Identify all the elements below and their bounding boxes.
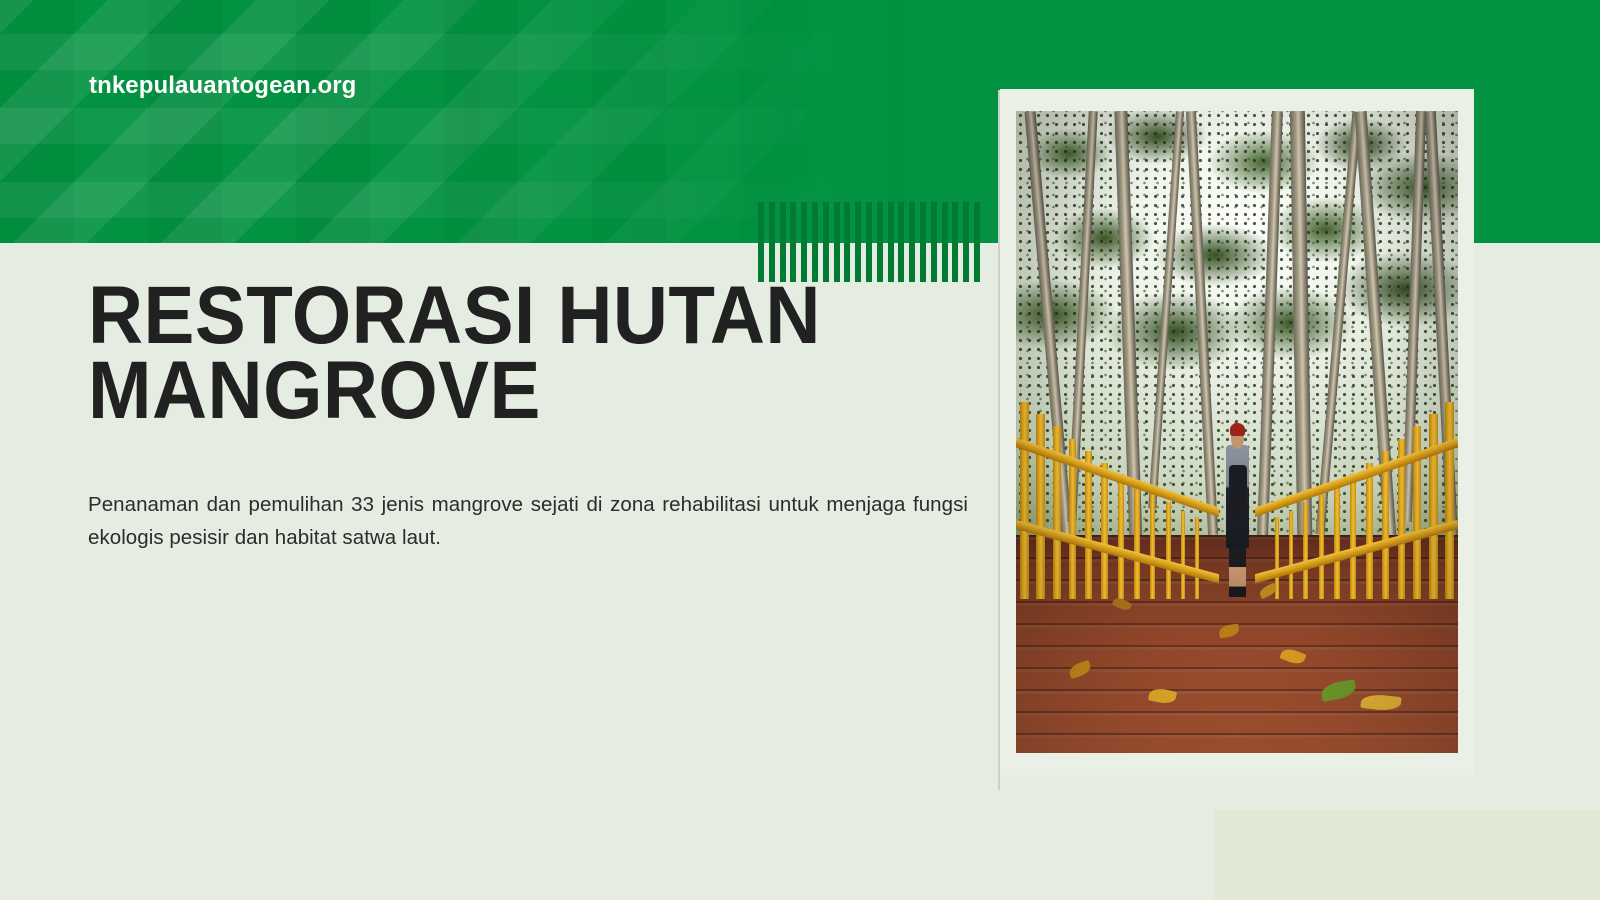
motif-bar <box>780 202 786 282</box>
railing-picket <box>1319 494 1324 599</box>
description-paragraph: Penanaman dan pemulihan 33 jenis mangrov… <box>88 488 968 554</box>
railing-picket <box>1150 494 1155 599</box>
railing-picket <box>1303 502 1308 599</box>
railing-top-rail <box>1255 438 1458 525</box>
motif-bar <box>952 202 958 282</box>
motif-bar <box>801 202 807 282</box>
railing-picket <box>1382 451 1389 599</box>
railing-picket <box>1166 502 1171 599</box>
hiker-legs <box>1229 542 1246 597</box>
railing-top-rail <box>1255 520 1458 591</box>
railing-picket <box>1366 463 1373 599</box>
hiker-cap <box>1230 423 1245 436</box>
motif-bar <box>942 202 948 282</box>
motif-bar <box>888 202 894 282</box>
railing-picket <box>1289 511 1293 599</box>
railing-picket <box>1445 402 1454 599</box>
railing-picket <box>1350 474 1356 599</box>
motif-bar <box>920 202 926 282</box>
motif-bar <box>812 202 818 282</box>
site-url[interactable]: tnkepulauantogean.org <box>89 72 356 100</box>
title-line-2: MANGROVE <box>88 353 888 428</box>
title-line-1: RESTORASI HUTAN <box>88 278 888 353</box>
railing-picket <box>1429 414 1438 599</box>
mangrove-boardwalk-photo <box>1016 111 1458 753</box>
accent-block <box>1214 810 1600 900</box>
railing-picket <box>1181 511 1185 599</box>
motif-bar <box>963 202 969 282</box>
vertical-bars-motif <box>758 202 984 282</box>
railing-picket <box>1134 484 1140 599</box>
motif-bar <box>758 202 764 282</box>
motif-bar <box>974 202 980 282</box>
motif-bar <box>834 202 840 282</box>
motif-bar <box>790 202 796 282</box>
description-text: Penanaman dan pemulihan 33 jenis mangrov… <box>88 493 968 549</box>
motif-bar <box>844 202 850 282</box>
motif-bar <box>877 202 883 282</box>
motif-bar <box>898 202 904 282</box>
page-title: RESTORASI HUTAN MANGROVE <box>88 278 948 429</box>
railing-picket <box>1036 414 1045 599</box>
railing-picket <box>1020 402 1029 599</box>
railing-picket <box>1195 517 1199 599</box>
railing-picket <box>1101 463 1108 599</box>
photo-frame <box>1000 89 1474 775</box>
railing-picket <box>1334 484 1340 599</box>
motif-bar <box>931 202 937 282</box>
railing-picket <box>1118 474 1124 599</box>
motif-bar <box>909 202 915 282</box>
motif-bar <box>823 202 829 282</box>
railing-left <box>1016 393 1219 598</box>
motif-bar <box>855 202 861 282</box>
motif-bar <box>769 202 775 282</box>
motif-bar <box>866 202 872 282</box>
hiker-backpack <box>1229 465 1247 520</box>
railing-right <box>1255 393 1458 598</box>
poster-slide: tnkepulauantogean.org RESTORASI HUTAN MA… <box>0 0 1600 900</box>
